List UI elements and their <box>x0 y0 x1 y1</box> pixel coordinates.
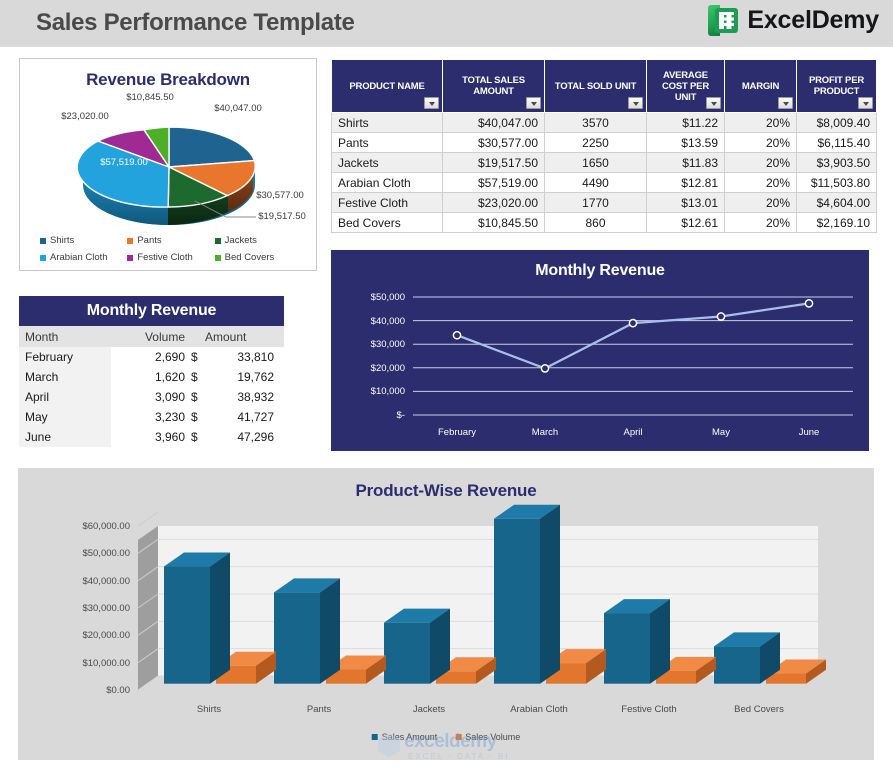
cell-avg-cost: $11.22 <box>647 113 725 133</box>
table-row[interactable]: February 2,690 $ 33,810 <box>19 347 284 367</box>
cell-avg-cost: $13.59 <box>647 133 725 153</box>
bar-x-axis-tick: Festive Cloth <box>621 704 676 715</box>
product-wise-revenue-chart[interactable]: Product-Wise Revenue $0.00$10,000.00$20,… <box>18 468 874 760</box>
table-row[interactable]: Bed Covers $10,845.50 860 $12.61 20% $2,… <box>332 213 877 233</box>
cell-month: March <box>19 367 111 387</box>
column-label-total-sold-unit: TOTAL SOLD UNIT <box>555 81 636 92</box>
monthly-revenue-line-chart[interactable]: Monthly Revenue $-$10,000$20,000$30,000$… <box>331 250 869 451</box>
line-data-point[interactable] <box>453 332 460 339</box>
legend-label-festive-cloth: Festive Cloth <box>137 252 192 263</box>
cell-product-name: Bed Covers <box>332 213 443 233</box>
cell-margin: 20% <box>725 213 797 233</box>
bar-y-axis-tick: $50,000.00 <box>40 548 130 559</box>
table-body: Shirts $40,047.00 3570 $11.22 20% $8,009… <box>332 113 877 233</box>
filter-dropdown-margin[interactable] <box>778 97 793 109</box>
cell-profit: $6,115.40 <box>797 133 877 153</box>
table-row[interactable]: Pants $30,577.00 2250 $13.59 20% $6,115.… <box>332 133 877 153</box>
bar-sales-amount-0[interactable] <box>164 553 230 684</box>
cell-total-sales: $57,519.00 <box>443 173 545 193</box>
legend-item-bed-covers[interactable]: Bed Covers <box>215 252 302 263</box>
legend-swatch-arabian-cloth <box>40 255 46 261</box>
legend-swatch-festive-cloth <box>127 255 133 261</box>
line-data-point[interactable] <box>717 313 724 320</box>
monthly-revenue-table: Monthly Revenue Month Volume Amount Febr… <box>19 296 284 447</box>
table-row[interactable]: April 3,090 $ 38,932 <box>19 387 284 407</box>
line-y-axis-tick: $30,000 <box>345 339 405 350</box>
bar-chart-svg <box>18 468 874 760</box>
column-header-total-sold-unit[interactable]: TOTAL SOLD UNIT <box>545 60 647 113</box>
cell-avg-cost: $12.81 <box>647 173 725 193</box>
column-label-margin: MARGIN <box>742 81 779 92</box>
bar-y-axis-tick: $60,000.00 <box>40 521 130 532</box>
bar-sales-amount-3[interactable] <box>494 505 560 684</box>
table-row[interactable]: March 1,620 $ 19,762 <box>19 367 284 387</box>
cell-product-name: Arabian Cloth <box>332 173 443 193</box>
cell-currency-symbol: $ <box>191 347 213 367</box>
bar-y-axis-tick: $10,000.00 <box>40 658 130 669</box>
monthly-revenue-table-title: Monthly Revenue <box>19 296 284 326</box>
legend-item-festive-cloth[interactable]: Festive Cloth <box>127 252 214 263</box>
cell-currency-symbol: $ <box>191 367 213 387</box>
column-header-total-sales-amount[interactable]: TOTAL SALES AMOUNT <box>443 60 545 113</box>
pie-label-arabian-cloth: $57,519.00 <box>91 157 157 168</box>
legend-item-sales-volume[interactable]: Sales Volume <box>455 732 520 742</box>
cell-profit: $3,903.50 <box>797 153 877 173</box>
cell-sold-unit: 4490 <box>545 173 647 193</box>
bar-x-axis-tick: Shirts <box>197 704 221 715</box>
table-row[interactable]: Shirts $40,047.00 3570 $11.22 20% $8,009… <box>332 113 877 133</box>
column-header-profit-per-product[interactable]: PROFIT PER PRODUCT <box>797 60 877 113</box>
excel-logo-icon <box>708 5 738 36</box>
cell-sold-unit: 1650 <box>545 153 647 173</box>
cell-avg-cost: $13.01 <box>647 193 725 213</box>
cell-amount: 38,932 <box>213 387 284 407</box>
column-label-product-name: PRODUCT NAME <box>349 81 424 92</box>
table-row[interactable]: Jackets $19,517.50 1650 $11.83 20% $3,90… <box>332 153 877 173</box>
bar-y-axis-tick: $0.00 <box>40 685 130 696</box>
revenue-breakdown-title: Revenue Breakdown <box>20 70 316 90</box>
cell-volume: 3,230 <box>111 407 191 427</box>
cell-margin: 20% <box>725 133 797 153</box>
cell-month: May <box>19 407 111 427</box>
cell-amount: 47,296 <box>213 427 284 447</box>
legend-swatch-shirts <box>40 238 46 244</box>
line-data-point[interactable] <box>805 300 812 307</box>
dashboard-page: Sales Performance Template ExcelDemy Rev… <box>0 0 893 778</box>
cell-currency-symbol: $ <box>191 387 213 407</box>
column-header-month: Month <box>19 326 111 347</box>
pie-label-bed-covers: $10,845.50 <box>118 92 182 103</box>
header-bar: Sales Performance Template ExcelDemy <box>0 0 893 47</box>
product-sales-table: PRODUCT NAME TOTAL SALES AMOUNT TOTAL SO… <box>331 59 876 233</box>
cell-sold-unit: 2250 <box>545 133 647 153</box>
legend-item-jackets[interactable]: Jackets <box>215 235 302 246</box>
monthly-header-row: Month Volume Amount <box>19 326 284 347</box>
column-header-amount: Amount <box>191 326 284 347</box>
cell-currency-symbol: $ <box>191 407 213 427</box>
bar-chart-legend: Sales Amount Sales Volume <box>372 732 521 742</box>
legend-swatch-sales-amount <box>372 734 378 740</box>
cell-profit: $11,503.80 <box>797 173 877 193</box>
legend-swatch-sales-volume <box>455 734 461 740</box>
column-label-total-sales-amount: TOTAL SALES AMOUNT <box>462 75 525 97</box>
cell-sold-unit: 3570 <box>545 113 647 133</box>
bar-sales-amount-5[interactable] <box>714 632 780 683</box>
cell-profit: $2,169.10 <box>797 213 877 233</box>
line-y-axis-tick: $10,000 <box>345 386 405 397</box>
revenue-breakdown-chart[interactable]: Revenue Breakdown <box>19 58 317 271</box>
bar-x-axis-tick: Jackets <box>413 704 445 715</box>
table-row[interactable]: Arabian Cloth $57,519.00 4490 $12.81 20%… <box>332 173 877 193</box>
table-header-row: PRODUCT NAME TOTAL SALES AMOUNT TOTAL SO… <box>332 60 877 113</box>
line-x-axis-tick: March <box>532 427 558 438</box>
cell-product-name: Festive Cloth <box>332 193 443 213</box>
monthly-table-body: February 2,690 $ 33,810 March 1,620 $ 19… <box>19 347 284 447</box>
cell-total-sales: $10,845.50 <box>443 213 545 233</box>
cell-product-name: Shirts <box>332 113 443 133</box>
cell-avg-cost: $11.83 <box>647 153 725 173</box>
column-label-average-cost-per-unit: AVERAGE COST PER UNIT <box>662 70 709 103</box>
line-x-axis-tick: May <box>712 427 730 438</box>
bar-sales-amount-4[interactable] <box>604 599 670 684</box>
filter-dropdown-total-sold-unit[interactable] <box>628 97 643 109</box>
legend-label-jackets: Jackets <box>225 235 257 246</box>
column-header-product-name[interactable]: PRODUCT NAME <box>332 60 443 113</box>
cell-margin: 20% <box>725 113 797 133</box>
bar-y-axis-tick: $20,000.00 <box>40 630 130 641</box>
cell-month: April <box>19 387 111 407</box>
table-row[interactable]: May 3,230 $ 41,727 <box>19 407 284 427</box>
filter-dropdown-profit-per-product[interactable] <box>858 97 873 109</box>
cell-volume: 3,960 <box>111 427 191 447</box>
legend-label-shirts: Shirts <box>50 235 74 246</box>
cell-product-name: Pants <box>332 133 443 153</box>
cell-product-name: Jackets <box>332 153 443 173</box>
cell-margin: 20% <box>725 193 797 213</box>
legend-item-arabian-cloth[interactable]: Arabian Cloth <box>40 252 127 263</box>
column-label-profit-per-product: PROFIT PER PRODUCT <box>809 75 864 97</box>
bar-x-axis-tick: Pants <box>307 704 331 715</box>
cell-margin: 20% <box>725 153 797 173</box>
column-header-margin[interactable]: MARGIN <box>725 60 797 113</box>
table-row[interactable]: Festive Cloth $23,020.00 1770 $13.01 20%… <box>332 193 877 213</box>
legend-swatch-jackets <box>215 238 221 244</box>
legend-swatch-pants <box>127 238 133 244</box>
column-header-volume: Volume <box>111 326 191 347</box>
bar-chart-stage: $0.00$10,000.00$20,000.00$30,000.00$40,0… <box>18 468 874 760</box>
pie-label-shirts: $40,047.00 <box>205 103 271 114</box>
cell-volume: 2,690 <box>111 347 191 367</box>
line-data-point[interactable] <box>629 320 636 327</box>
line-data-point[interactable] <box>541 365 548 372</box>
bar-y-axis-tick: $30,000.00 <box>40 603 130 614</box>
cell-amount: 19,762 <box>213 367 284 387</box>
filter-dropdown-average-cost-per-unit[interactable] <box>706 97 721 109</box>
cell-avg-cost: $12.61 <box>647 213 725 233</box>
bar-x-axis-tick: Arabian Cloth <box>510 704 568 715</box>
cell-total-sales: $19,517.50 <box>443 153 545 173</box>
pie-legend: Shirts Pants Jackets Arabian Cloth Festi… <box>40 235 302 263</box>
bar-sales-amount-1[interactable] <box>274 578 340 683</box>
cell-amount: 33,810 <box>213 347 284 367</box>
cell-volume: 1,620 <box>111 367 191 387</box>
page-title: Sales Performance Template <box>36 9 355 37</box>
bar-y-axis-tick: $40,000.00 <box>40 576 130 587</box>
bar-x-axis-tick: Bed Covers <box>734 704 784 715</box>
pie-label-pants: $30,577.00 <box>246 190 314 201</box>
legend-swatch-bed-covers <box>215 255 221 261</box>
brand-logo: ExcelDemy <box>708 5 879 36</box>
legend-item-shirts[interactable]: Shirts <box>40 235 127 246</box>
cell-currency-symbol: $ <box>191 427 213 447</box>
pie-label-festive-cloth: $23,020.00 <box>52 111 118 122</box>
cell-profit: $4,604.00 <box>797 193 877 213</box>
line-chart-svg <box>331 250 869 451</box>
legend-item-sales-amount[interactable]: Sales Amount <box>372 732 438 742</box>
legend-label-pants: Pants <box>137 235 161 246</box>
line-y-axis-tick: $20,000 <box>345 363 405 374</box>
legend-label-sales-amount: Sales Amount <box>382 732 438 742</box>
line-y-axis-tick: $40,000 <box>345 316 405 327</box>
legend-label-sales-volume: Sales Volume <box>465 732 520 742</box>
line-x-axis-tick: June <box>799 427 820 438</box>
line-chart-plot: $-$10,000$20,000$30,000$40,000$50,000Feb… <box>331 250 869 451</box>
bar-sales-amount-2[interactable] <box>384 609 450 684</box>
cell-margin: 20% <box>725 173 797 193</box>
cell-sold-unit: 1770 <box>545 193 647 213</box>
column-header-average-cost-per-unit[interactable]: AVERAGE COST PER UNIT <box>647 60 725 113</box>
line-y-axis-tick: $50,000 <box>345 292 405 303</box>
pie-label-jackets: $19,517.50 <box>248 211 316 222</box>
legend-label-bed-covers: Bed Covers <box>225 252 275 263</box>
filter-dropdown-total-sales-amount[interactable] <box>526 97 541 109</box>
cell-month: February <box>19 347 111 367</box>
cell-profit: $8,009.40 <box>797 113 877 133</box>
pie-chart-stage: $10,845.50 $40,047.00 $23,020.00 $57,519… <box>20 93 318 228</box>
cell-amount: 41,727 <box>213 407 284 427</box>
brand-name: ExcelDemy <box>747 6 879 35</box>
cell-total-sales: $40,047.00 <box>443 113 545 133</box>
legend-item-pants[interactable]: Pants <box>127 235 214 246</box>
filter-dropdown-product-name[interactable] <box>424 97 439 109</box>
cell-sold-unit: 860 <box>545 213 647 233</box>
line-series-monthly-revenue <box>457 303 809 368</box>
cell-total-sales: $30,577.00 <box>443 133 545 153</box>
legend-label-arabian-cloth: Arabian Cloth <box>50 252 108 263</box>
cell-total-sales: $23,020.00 <box>443 193 545 213</box>
line-x-axis-tick: February <box>438 427 476 438</box>
line-y-axis-tick: $- <box>345 410 405 421</box>
table-row[interactable]: June 3,960 $ 47,296 <box>19 427 284 447</box>
cell-volume: 3,090 <box>111 387 191 407</box>
line-x-axis-tick: April <box>623 427 642 438</box>
cell-month: June <box>19 427 111 447</box>
